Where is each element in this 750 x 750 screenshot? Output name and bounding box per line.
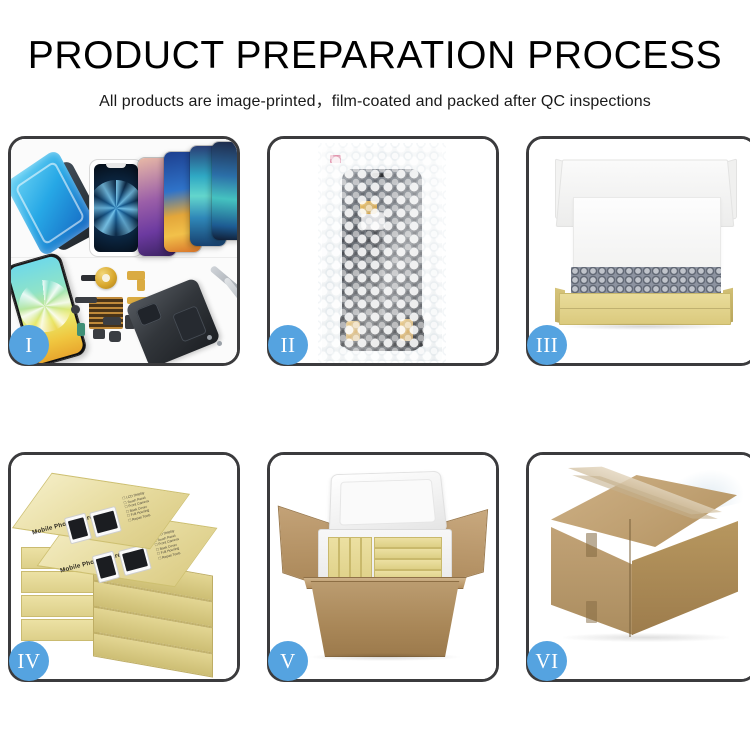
step-image-3: [529, 139, 750, 363]
product-preparation-infographic: PRODUCT PREPARATION PROCESS All products…: [0, 0, 750, 750]
process-step-grid: I II: [8, 136, 742, 682]
part-flex-cable-2: [137, 279, 145, 291]
phone-device-4: [211, 141, 237, 241]
carton-front-edge: [629, 519, 631, 637]
phone-screen: [212, 142, 237, 240]
step-badge-1: I: [9, 325, 49, 365]
step-image-4: Mobile Phone Spare Parts ☐ LCD Display☐ …: [11, 455, 237, 679]
part-button: [71, 305, 80, 314]
part-camera-module: [109, 331, 121, 342]
step-panel-2[interactable]: II: [267, 136, 499, 366]
step-badge-4: IV: [9, 641, 49, 681]
step-panel-3[interactable]: III: [526, 136, 750, 366]
part-sensor: [77, 323, 85, 336]
step-badge-3: III: [527, 325, 567, 365]
step-panel-6[interactable]: VI: [526, 452, 750, 682]
part-connector-1: [75, 297, 97, 303]
box-front-panel: [559, 293, 731, 325]
notch-icon: [106, 163, 126, 168]
page-title: PRODUCT PREPARATION PROCESS: [0, 0, 750, 77]
header: PRODUCT PREPARATION PROCESS All products…: [0, 0, 750, 111]
step-badge-5: V: [268, 641, 308, 681]
plastic-sheen: [318, 143, 446, 363]
step-badge-2: II: [268, 325, 308, 365]
drop-shadow: [563, 323, 725, 330]
retail-box-stack: Mobile Phone Spare Parts ☐ LCD Display☐ …: [15, 461, 237, 679]
step-image-2: [270, 139, 496, 363]
step-badge-6: VI: [527, 641, 567, 681]
step-image-6: [529, 455, 750, 679]
front-glass-panel: [89, 159, 143, 257]
carton-seam-upper: [586, 533, 597, 557]
step-panel-4[interactable]: Mobile Phone Spare Parts ☐ LCD Display☐ …: [8, 452, 240, 682]
step-panel-5[interactable]: V: [267, 452, 499, 682]
carton-seam-lower: [586, 601, 597, 623]
foam-sheet: [573, 197, 721, 271]
page-subtitle: All products are image-printed，film-coat…: [0, 77, 750, 111]
screw-1: [207, 335, 212, 340]
part-wireless-coil: [95, 267, 117, 289]
inner-box-6: [374, 548, 442, 559]
stacked-box-b4: [21, 619, 99, 641]
stacked-box-b2: [21, 571, 99, 593]
screw-2: [217, 341, 222, 346]
step-image-5: [270, 455, 496, 679]
part-bracket: [93, 329, 105, 339]
step-panel-1[interactable]: I: [8, 136, 240, 366]
stacked-box-b3: [21, 595, 99, 617]
foam-cooler-lid: [329, 471, 448, 536]
inner-box-7: [374, 559, 442, 570]
step-image-1: [11, 139, 237, 363]
drop-shadow: [310, 653, 460, 661]
carton-body: [306, 581, 464, 657]
inner-box-5: [374, 537, 442, 548]
part-module-1: [103, 317, 121, 325]
glass-screen-graphic: [94, 164, 138, 252]
drop-shadow: [563, 633, 729, 642]
